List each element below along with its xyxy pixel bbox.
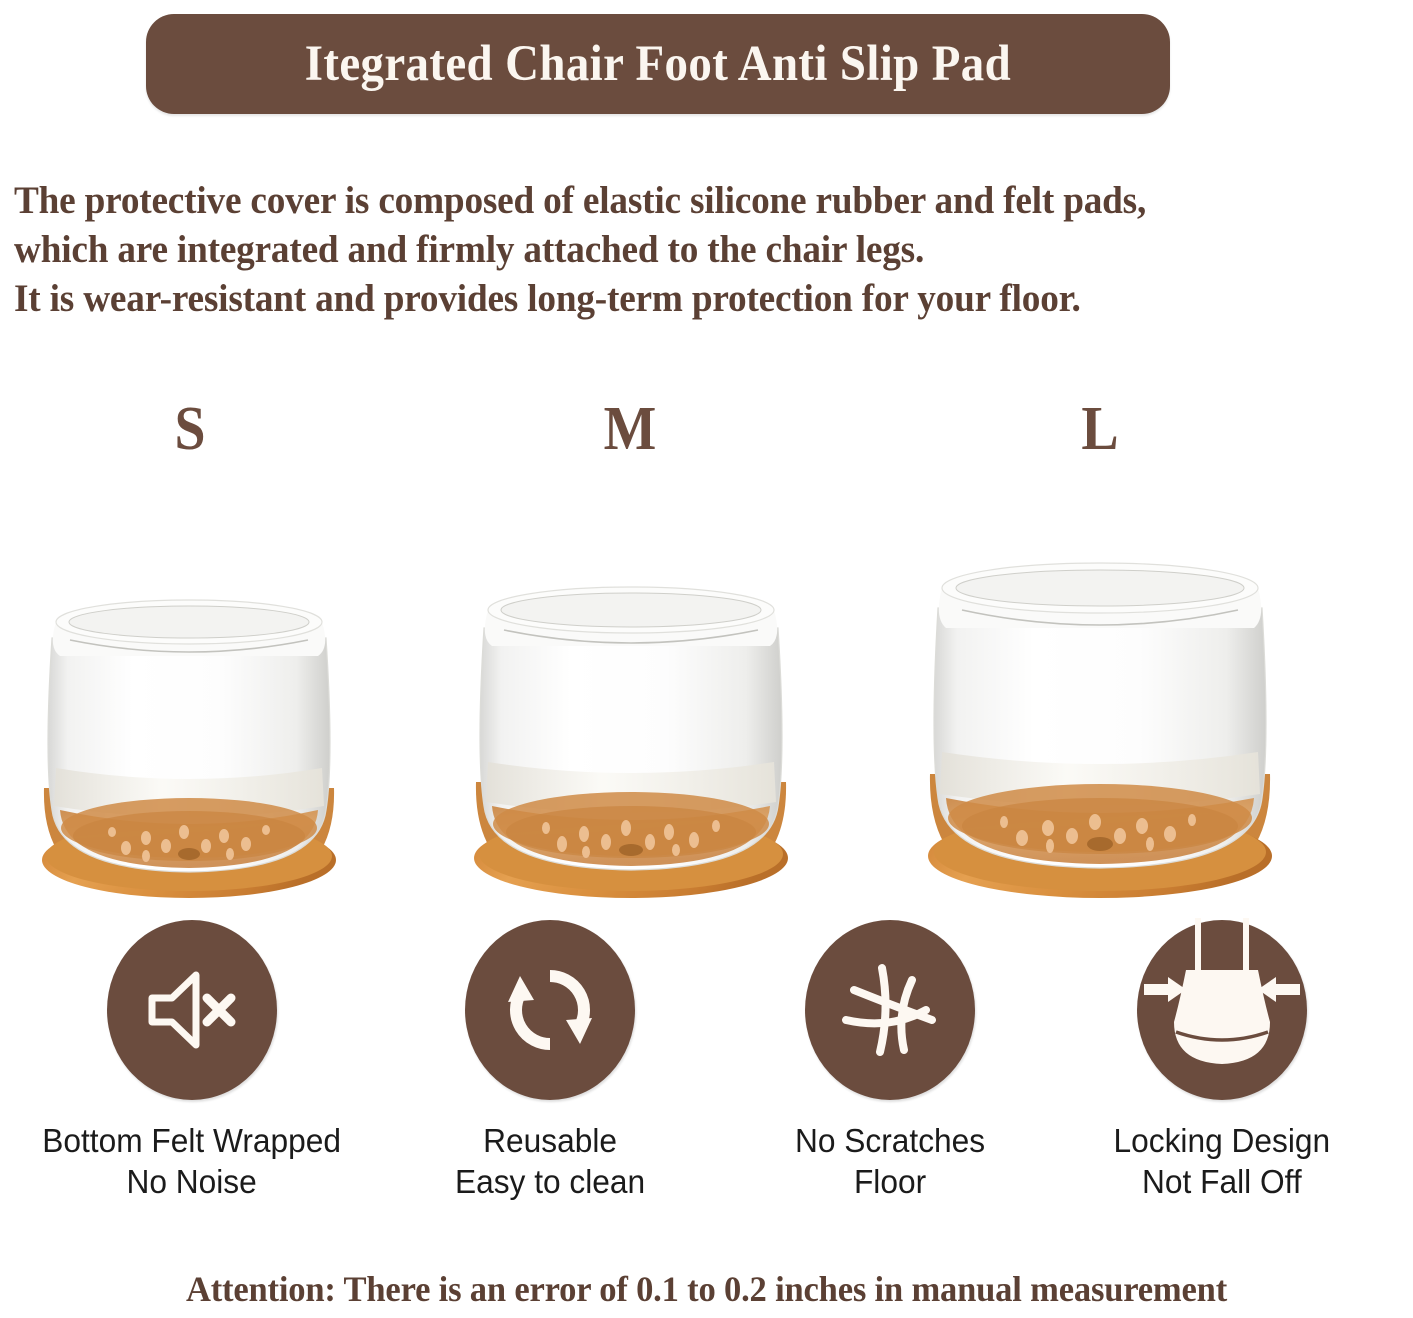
attention-note: Attention: There is an error of 0.1 to 0… [28, 1268, 1384, 1310]
feature-icon-badge [107, 920, 277, 1100]
feature-icon-badge [1137, 920, 1307, 1100]
feature-caption-line-1: No Scratches [795, 1120, 985, 1161]
product-image-small [34, 560, 344, 900]
silicone-cap-illustration-small [34, 560, 344, 900]
chair-leg-grip-icon [1142, 922, 1302, 1098]
feature-caption-line-1: Locking Design [1114, 1120, 1331, 1161]
description-line-1: The protective cover is composed of elas… [14, 176, 1350, 225]
feature-bottom-felt-wrapped: Bottom Felt Wrapped No Noise [22, 920, 362, 1202]
feature-icon-badge [465, 920, 635, 1100]
feature-reusable: Reusable Easy to clean [380, 920, 720, 1202]
product-image-medium [466, 550, 796, 900]
feature-caption-line-1: Reusable [455, 1120, 645, 1161]
feature-caption-line-2: No Noise [43, 1161, 342, 1202]
recycle-arrows-icon [500, 960, 600, 1060]
feature-caption-line-2: Easy to clean [455, 1161, 645, 1202]
size-label-large: L [1046, 398, 1154, 460]
feature-icon-badge [805, 920, 975, 1100]
muted-speaker-icon [142, 965, 242, 1055]
description-block: The protective cover is composed of elas… [14, 176, 1413, 323]
size-labels-row: S M L [0, 398, 1413, 478]
page-title: Itegrated Chair Foot Anti Slip Pad [305, 35, 1011, 93]
features-row: Bottom Felt Wrapped No Noise Reusable Ea… [0, 920, 1413, 1230]
feature-caption: Bottom Felt Wrapped No Noise [43, 1120, 342, 1202]
scratch-lines-icon [838, 958, 942, 1062]
size-label-medium: M [576, 398, 684, 460]
feature-caption: No Scratches Floor [795, 1120, 985, 1202]
product-image-large [920, 530, 1280, 900]
description-line-3: It is wear-resistant and provides long-t… [14, 274, 1350, 323]
silicone-cap-illustration-medium [466, 550, 796, 900]
feature-caption-line-2: Floor [795, 1161, 985, 1202]
feature-no-scratches: No Scratches Floor [720, 920, 1060, 1202]
description-line-2: which are integrated and firmly attached… [14, 225, 1350, 274]
feature-caption: Reusable Easy to clean [455, 1120, 645, 1202]
product-images-row [0, 480, 1413, 900]
header-banner: Itegrated Chair Foot Anti Slip Pad [146, 14, 1170, 114]
silicone-cap-illustration-large [920, 530, 1280, 900]
feature-caption-line-2: Not Fall Off [1114, 1161, 1331, 1202]
feature-locking-design: Locking Design Not Fall Off [1052, 920, 1392, 1202]
feature-caption-line-1: Bottom Felt Wrapped [43, 1120, 342, 1161]
size-label-small: S [136, 398, 244, 460]
feature-caption: Locking Design Not Fall Off [1114, 1120, 1331, 1202]
